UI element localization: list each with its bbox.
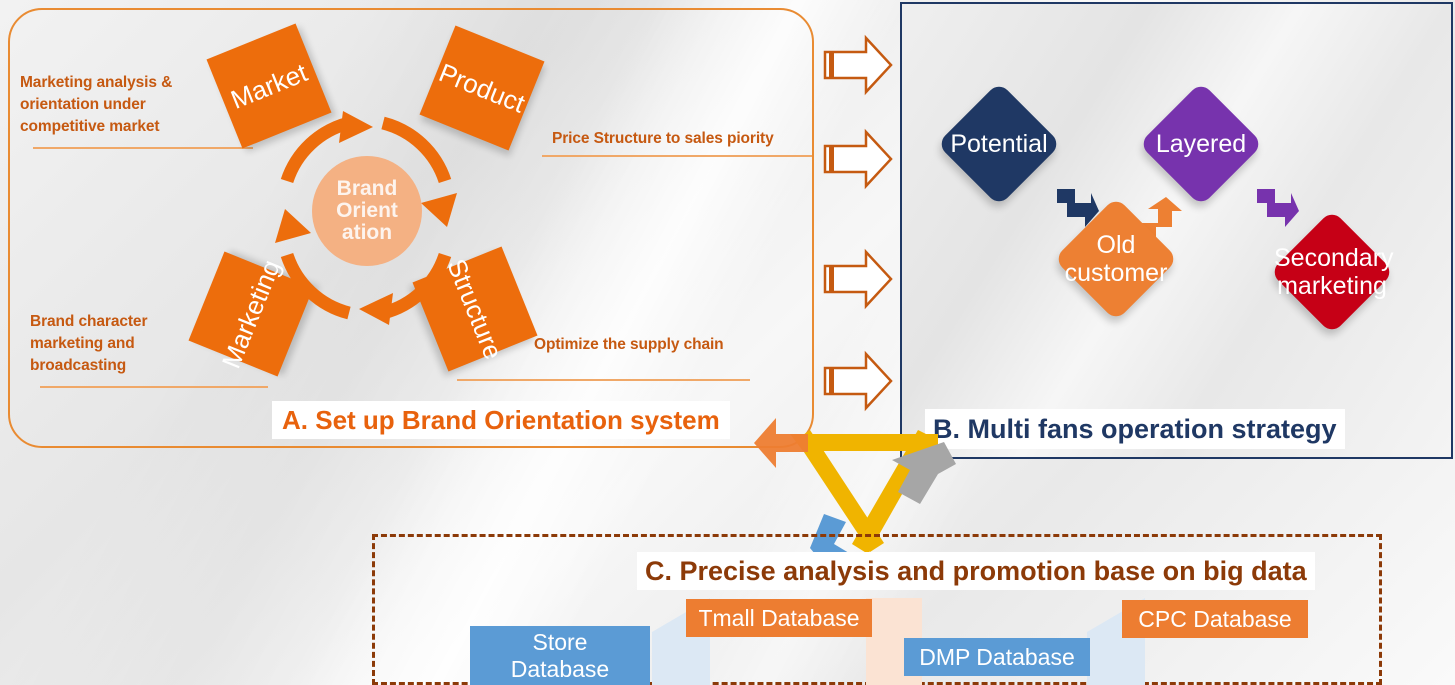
note-line: competitive market [20, 116, 220, 138]
diamond-label-line: Old [1058, 231, 1174, 259]
note-brand-character: Brand character marketing and broadcasti… [30, 311, 220, 377]
db-tmall[interactable]: Tmall Database [686, 599, 872, 637]
db-label-line: Store [511, 629, 609, 655]
db-label-line: Tmall Database [698, 605, 859, 631]
diamond-old-customer[interactable]: Old customer [1072, 215, 1160, 303]
note-rule [33, 147, 253, 149]
diagram-canvas: Marketing analysis & orientation under c… [0, 0, 1455, 685]
note-optimize-supply-chain: Optimize the supply chain [534, 334, 724, 356]
db-label-line: Database [511, 656, 609, 682]
diamond-label: Secondary marketing [1274, 244, 1390, 300]
note-rule [542, 155, 812, 157]
diamond-label-line: Potential [941, 130, 1057, 158]
diamond-label-line: Secondary [1274, 244, 1390, 272]
note-rule [40, 386, 268, 388]
right-arrow-icon[interactable] [822, 34, 894, 96]
panel-b-title: B. Multi fans operation strategy [925, 409, 1345, 449]
diamond-label-line: Layered [1143, 130, 1259, 158]
diamond-layered[interactable]: Layered [1157, 100, 1245, 188]
panel-c-title: C. Precise analysis and promotion base o… [637, 552, 1315, 590]
db-cpc[interactable]: CPC Database [1122, 600, 1308, 638]
note-price-structure: Price Structure to sales piority [552, 128, 774, 150]
diamond-label: Old customer [1058, 231, 1174, 287]
db-store[interactable]: Store Database [470, 626, 650, 685]
brand-orientation-core: Brand Orient ation [312, 156, 422, 266]
panel-a-title: A. Set up Brand Orientation system [272, 401, 730, 439]
db-label-line: DMP Database [919, 644, 1075, 670]
right-arrow-icon[interactable] [822, 128, 894, 190]
core-line: ation [342, 222, 392, 244]
diamond-potential[interactable]: Potential [955, 100, 1043, 188]
diamond-tail-arrow-icon [1255, 185, 1301, 233]
core-line: Orient [336, 200, 398, 222]
note-line: orientation under [20, 94, 220, 116]
core-line: Brand [337, 178, 398, 200]
db-dmp[interactable]: DMP Database [904, 638, 1090, 676]
diamond-secondary-marketing[interactable]: Secondary marketing [1288, 228, 1376, 316]
diamond-label: Layered [1143, 130, 1259, 158]
note-rule [457, 379, 750, 381]
diamond-label-line: customer [1058, 259, 1174, 287]
db-label-line: CPC Database [1138, 606, 1291, 632]
tile-label: Market [226, 57, 311, 116]
diamond-label-line: marketing [1274, 272, 1390, 300]
note-line: Marketing analysis & [20, 72, 220, 94]
diamond-label: Potential [941, 130, 1057, 158]
note-line: broadcasting [30, 355, 220, 377]
note-marketing-analysis: Marketing analysis & orientation under c… [20, 72, 220, 138]
right-arrow-icon[interactable] [822, 248, 894, 310]
